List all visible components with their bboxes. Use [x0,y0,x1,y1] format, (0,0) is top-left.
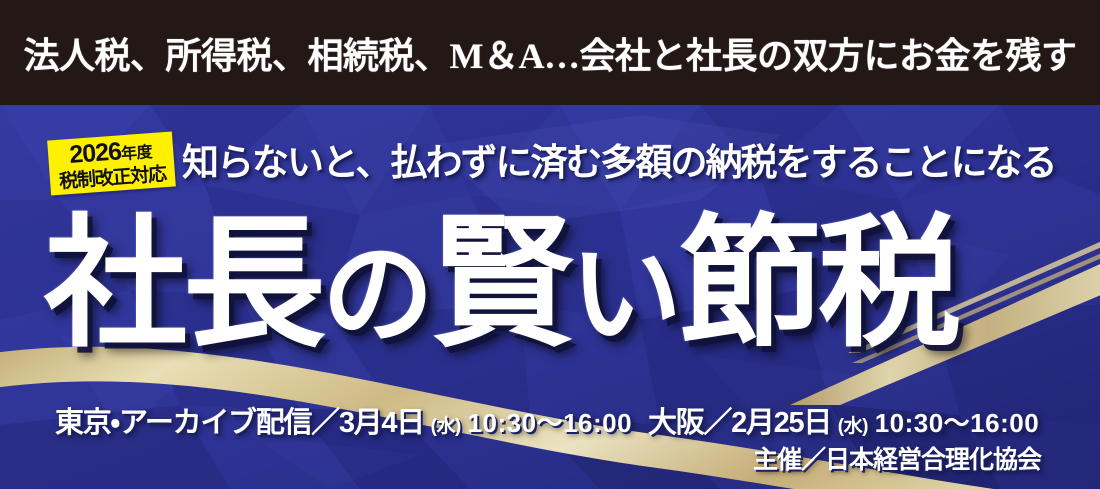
title-part-4: 節税 [679,205,957,364]
hero-subtitle: 知らないと、払わずに済む多額の納税をすることになる [182,138,1062,188]
header-bar: 法人税、所得税、相続税、M＆A…会社と社長の双方にお金を残す [0,0,1100,105]
seminar-banner: 法人税、所得税、相続税、M＆A…会社と社長の双方にお金を残す [0,0,1100,489]
badge-year-number: 2026 [68,137,122,169]
schedule-osaka-time: 10:30〜16:00 [875,408,1040,438]
tax-reform-badge: 2026年度 税制改正対応 [47,131,176,195]
schedule-osaka-dow: (水) [838,416,868,437]
title-part-1: の [322,232,431,357]
catch-copy-text: 法人税、所得税、相続税、M＆A…会社と社長の双方にお金を残す [24,27,1077,79]
title-part-3: い [570,232,679,357]
badge-year-suffix: 年度 [121,144,153,163]
title-part-0: 社長 [44,205,322,364]
banner-content: 2026年度 税制改正対応 知らないと、払わずに済む多額の納税をすることになる … [0,105,1100,489]
schedule-tokyo-time: 10:30〜16:00 [468,408,633,438]
organizer-text: 主催／日本経営合理化協会 [753,444,1041,476]
title-part-2: 賢 [431,205,570,364]
schedule-tokyo-venue-date: 東京・アーカイブ配信／3月4日 [55,407,424,439]
schedule-tokyo: 東京・アーカイブ配信／3月4日 (水) 10:30〜16:00 [55,405,632,445]
schedule-tokyo-dow: (水) [431,416,461,437]
schedule-osaka: 大阪／2月25日 (水) 10:30〜16:00 [648,405,1039,445]
schedule-osaka-venue-date: 大阪／2月25日 [648,407,831,439]
hero-title: 社長の賢い節税 [44,213,1064,358]
